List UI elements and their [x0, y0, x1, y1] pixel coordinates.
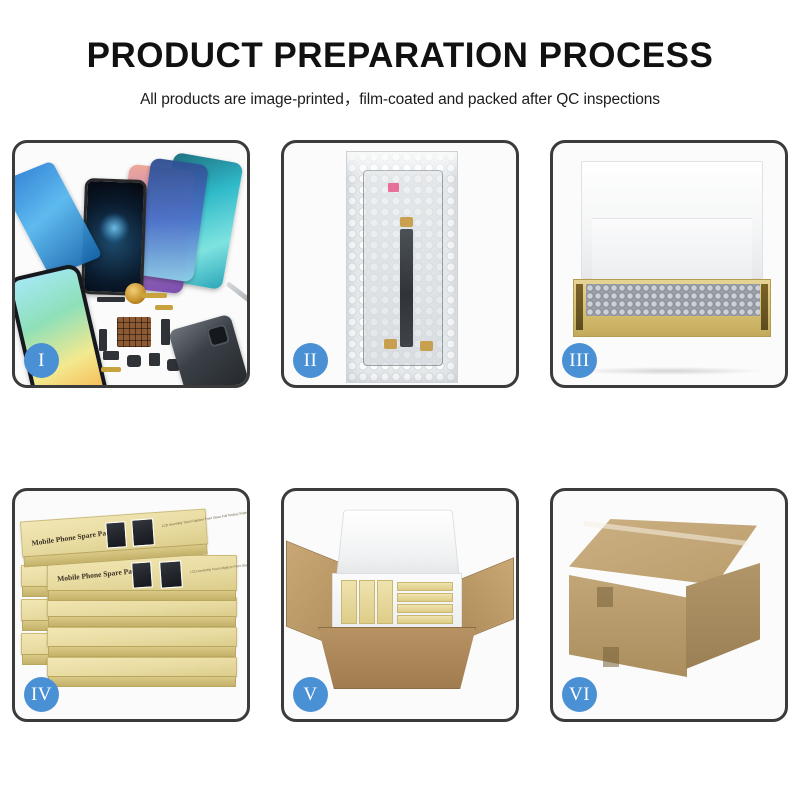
- packed-retail-box: [377, 580, 393, 624]
- flex-cable-part: [101, 367, 121, 372]
- small-part: [127, 355, 141, 367]
- bubble-wrapped-contents: [586, 284, 760, 316]
- screen-thumbnail: [159, 560, 183, 588]
- process-step-card-6: VI: [550, 488, 788, 722]
- retail-box: [47, 657, 237, 677]
- flex-cable-part: [155, 305, 173, 310]
- carton-front-face: [569, 575, 687, 677]
- carton-body: [318, 627, 476, 689]
- kraft-box-tray: [573, 279, 771, 337]
- process-step-card-1: I: [12, 140, 250, 388]
- retail-box-label: Mobile Phone Spare Parts: [57, 566, 141, 584]
- step-badge-4: IV: [24, 677, 59, 712]
- bag-seal-area: [347, 152, 457, 178]
- pink-sticker: [388, 183, 399, 192]
- small-part: [161, 319, 170, 345]
- step-badge-1: I: [24, 343, 59, 378]
- retail-box: [47, 627, 237, 647]
- foam-box-body: [332, 573, 462, 631]
- page-title: PRODUCT PREPARATION PROCESS: [0, 38, 800, 75]
- header: PRODUCT PREPARATION PROCESS All products…: [0, 0, 800, 109]
- box-corner-right: [761, 284, 768, 330]
- chip-board-part: [117, 317, 151, 347]
- phone-back-housing: [168, 314, 247, 385]
- step-badge-6: VI: [562, 677, 597, 712]
- carton-hand-hole: [597, 587, 613, 607]
- retail-box-printed-top: Mobile Phone Spare Parts LCD Assembly To…: [20, 509, 208, 558]
- process-step-card-2: II: [281, 140, 519, 388]
- retail-box-specs: LCD Assembly Touch Digitizer Front Glass…: [190, 558, 247, 575]
- retail-box-specs: LCD Assembly Touch Digitizer Front Glass…: [161, 508, 247, 528]
- packed-retail-box: [359, 580, 375, 624]
- bubble-wrap-bag: [346, 151, 458, 383]
- small-part: [97, 297, 125, 302]
- retail-box-stack: Mobile Phone Spare Parts LCD Assembly To…: [21, 507, 245, 703]
- packed-retail-box: [341, 580, 357, 624]
- step-badge-5: V: [293, 677, 328, 712]
- page-subtitle: All products are image-printed，film-coat…: [0, 87, 800, 109]
- tweezers-tool: [226, 281, 247, 310]
- screen-thumbnail: [131, 518, 155, 546]
- small-part: [149, 353, 160, 366]
- small-part: [99, 329, 107, 351]
- gold-connector: [384, 339, 397, 349]
- packed-retail-box: [397, 604, 453, 613]
- flex-cable-strip: [400, 229, 413, 347]
- packed-retail-box: [397, 582, 453, 591]
- lcd-screen-inside-bag: [363, 170, 443, 366]
- process-step-card-4: Mobile Phone Spare Parts LCD Assembly To…: [12, 488, 250, 722]
- gold-connector: [420, 341, 433, 351]
- gold-connector: [400, 217, 413, 227]
- screen-thumbnail: [131, 561, 153, 588]
- white-box-lid: [581, 161, 763, 279]
- infographic-page: PRODUCT PREPARATION PROCESS All products…: [0, 0, 800, 800]
- carton-hand-hole: [603, 647, 619, 667]
- packed-retail-box: [397, 593, 453, 602]
- process-steps-grid: I II: [12, 140, 788, 722]
- foam-box-lid: [336, 510, 460, 579]
- flex-cable-part: [141, 293, 167, 298]
- process-step-card-5: V: [281, 488, 519, 722]
- screen-thumbnail: [105, 521, 127, 548]
- retail-box-label: Mobile Phone Spare Parts: [31, 527, 115, 548]
- small-part: [103, 351, 119, 360]
- process-step-card-3: III: [550, 140, 788, 388]
- step-badge-2: II: [293, 343, 328, 378]
- box-corner-left: [576, 284, 583, 330]
- drop-shadow: [577, 367, 761, 375]
- step-badge-3: III: [562, 343, 597, 378]
- spare-parts-group: [97, 275, 247, 385]
- packed-retail-box: [397, 615, 453, 624]
